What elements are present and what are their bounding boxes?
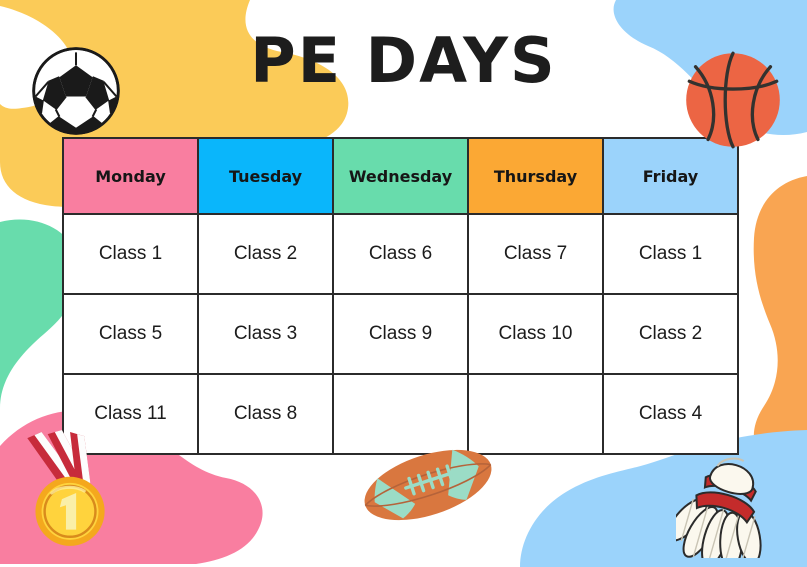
schedule-cell[interactable]: Class 2 [603, 294, 738, 374]
day-header-label: Friday [643, 167, 698, 186]
day-header-tuesday: Tuesday [198, 138, 333, 214]
pe-schedule-table: Monday Tuesday Wednesday Thursday Friday… [62, 137, 739, 455]
day-header-label: Wednesday [349, 167, 452, 186]
schedule-cell[interactable]: Class 2 [198, 214, 333, 294]
pe-days-poster: PE DAYS Monday Tuesday Wednesday Thursda… [0, 0, 807, 567]
day-header-label: Thursday [494, 167, 577, 186]
gold-medal-icon [16, 430, 120, 550]
schedule-cell[interactable]: Class 8 [198, 374, 333, 454]
schedule-cell[interactable]: Class 3 [198, 294, 333, 374]
schedule-cell[interactable]: Class 1 [63, 214, 198, 294]
table-header-row: Monday Tuesday Wednesday Thursday Friday [63, 138, 738, 214]
day-header-monday: Monday [63, 138, 198, 214]
table-row: Class 5 Class 3 Class 9 Class 10 Class 2 [63, 294, 738, 374]
day-header-label: Tuesday [229, 167, 302, 186]
soccer-ball-icon [30, 45, 122, 137]
day-header-thursday: Thursday [468, 138, 603, 214]
schedule-cell[interactable]: Class 5 [63, 294, 198, 374]
day-header-wednesday: Wednesday [333, 138, 468, 214]
day-header-label: Monday [95, 167, 166, 186]
football-icon [358, 437, 498, 533]
basketball-icon [681, 48, 785, 152]
schedule-cell[interactable]: Class 6 [333, 214, 468, 294]
shuttlecock-icon [676, 430, 780, 558]
schedule-cell[interactable]: Class 10 [468, 294, 603, 374]
schedule-cell[interactable]: Class 7 [468, 214, 603, 294]
table-row: Class 1 Class 2 Class 6 Class 7 Class 1 [63, 214, 738, 294]
schedule-cell[interactable]: Class 1 [603, 214, 738, 294]
medal-ribbon [27, 430, 90, 487]
schedule-cell[interactable]: Class 9 [333, 294, 468, 374]
